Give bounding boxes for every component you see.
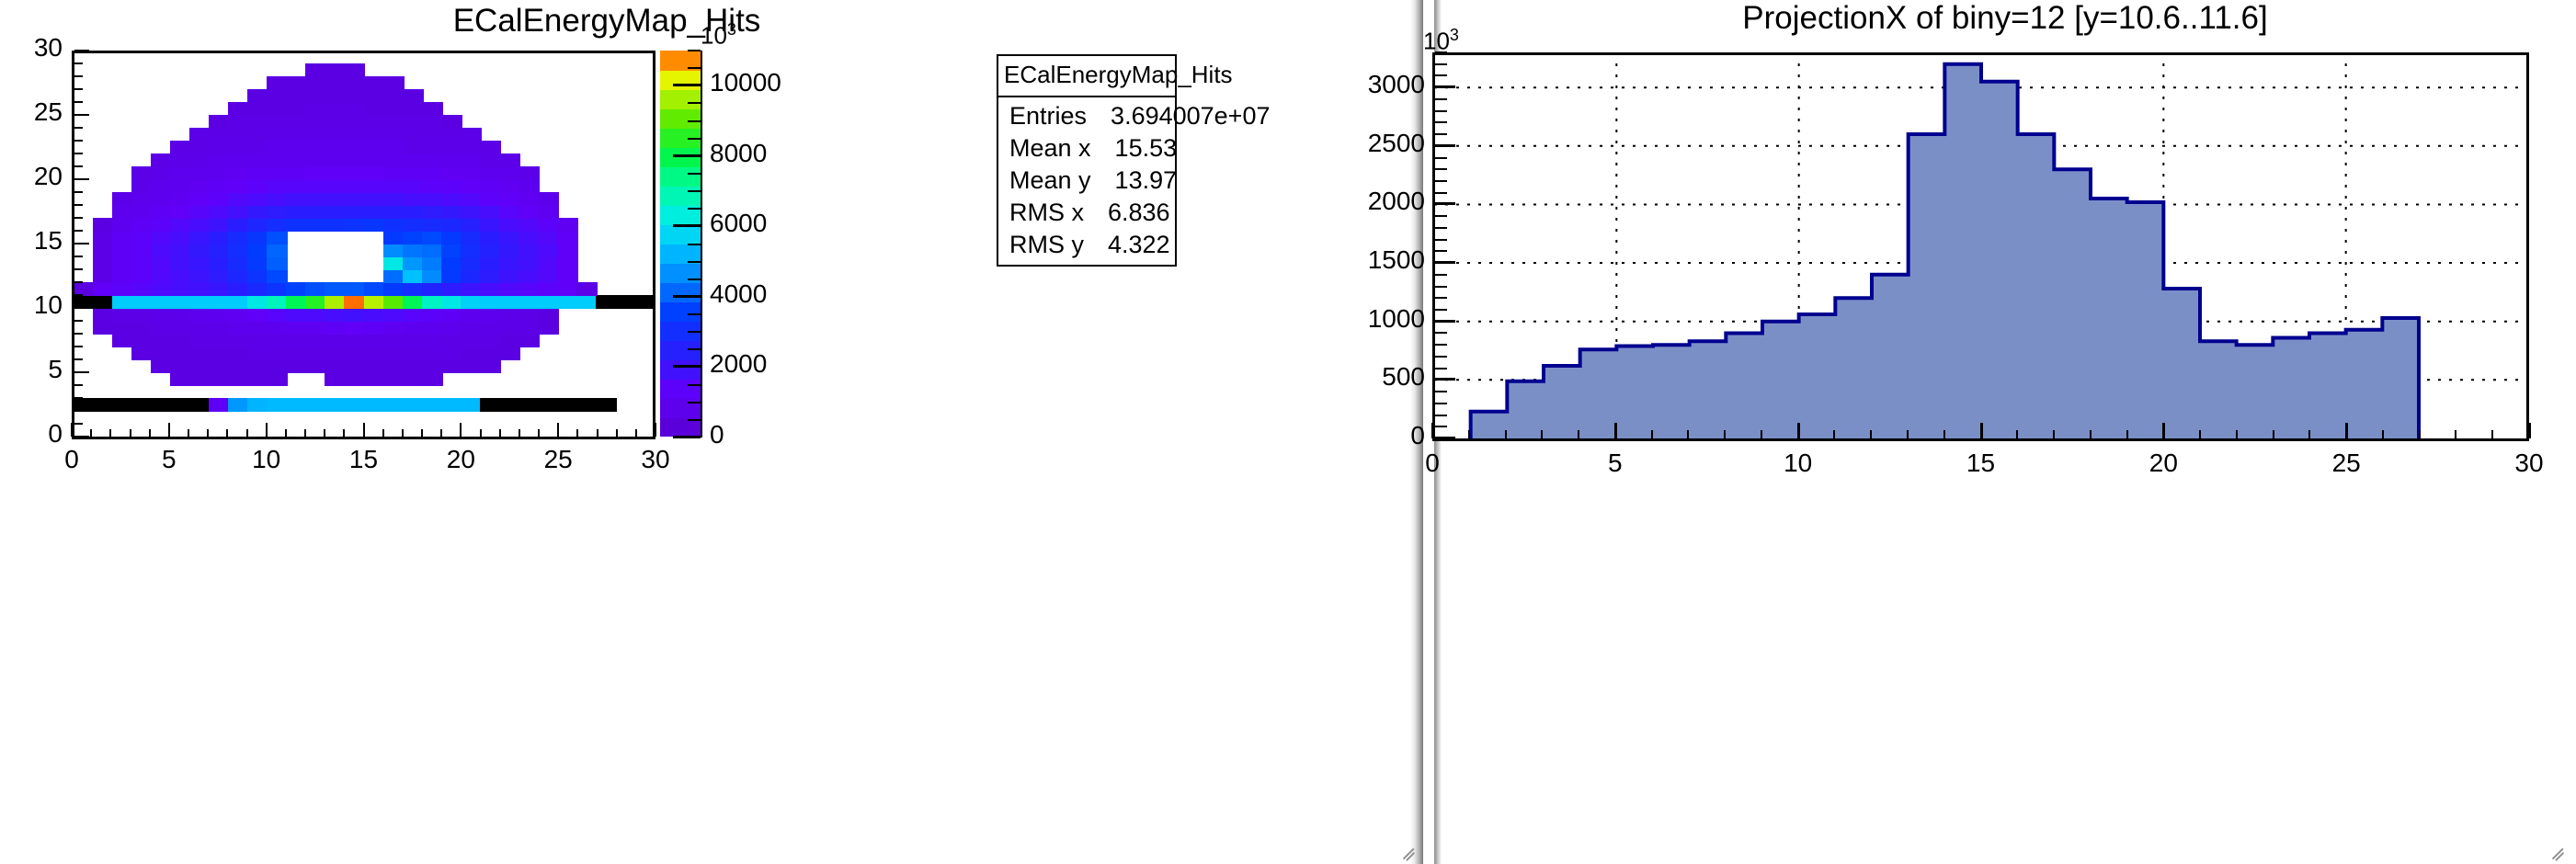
hist-y-tick-label: 3000 — [1316, 70, 1425, 99]
heatmap-x-minor-tick — [285, 429, 287, 437]
hist-y-minor-tick — [1435, 51, 1447, 53]
left-stat-row: Mean y13.97 — [1009, 165, 1164, 197]
left-stat-value: 15.53 — [1115, 132, 1178, 165]
heatmap-y-minor-tick — [74, 230, 83, 232]
hist-x-minor-tick — [2053, 430, 2055, 438]
palette-minor-tick — [688, 120, 701, 122]
hist-y-minor-tick — [1435, 356, 1447, 358]
palette-minor-tick — [688, 102, 701, 104]
heatmap-x-minor-tick — [402, 429, 404, 437]
heatmap-y-minor-tick — [74, 256, 83, 257]
hist-x-minor-tick — [1687, 430, 1689, 438]
heatmap-x-tick-label: 5 — [142, 445, 197, 474]
hist-x-minor-tick — [2382, 430, 2384, 438]
heatmap-y-minor-tick — [74, 320, 83, 322]
heatmap-y-minor-tick — [74, 165, 83, 167]
heatmap-y-tick-label: 20 — [0, 162, 63, 191]
heatmap-y-minor-tick — [74, 153, 83, 154]
histogram-canvas[interactable] — [1434, 52, 2528, 438]
heatmap-frame-left — [72, 51, 74, 439]
hist-y-tick-label: 1500 — [1316, 245, 1425, 275]
heatmap-x-minor-tick — [188, 429, 189, 437]
left-stat-key: RMS y — [1009, 229, 1108, 261]
hist-y-minor-tick — [1435, 309, 1447, 311]
palette-exponent: 103 — [701, 20, 736, 51]
heatmap-y-minor-tick — [74, 384, 83, 386]
hist-y-minor-tick — [1435, 74, 1447, 76]
heatmap-y-major-tick — [74, 307, 89, 309]
palette-minor-tick — [688, 190, 701, 192]
hist-y-minor-tick — [1435, 344, 1447, 346]
heatmap-y-minor-tick — [74, 101, 83, 103]
heatmap-y-major-tick — [74, 50, 89, 51]
palette-minor-tick — [688, 419, 701, 421]
left-pad-resize-grip[interactable] — [1399, 838, 1419, 858]
heatmap-x-minor-tick — [149, 429, 151, 437]
palette-exp-power: 3 — [727, 20, 736, 39]
hist-x-major-tick — [2528, 423, 2531, 438]
palette-minor-tick — [688, 138, 701, 140]
heatmap-y-minor-tick — [74, 281, 83, 283]
palette-tick-label: 10000 — [710, 68, 781, 97]
hist-y-major-tick — [1435, 437, 1455, 439]
palette-exp-base: 10 — [701, 22, 727, 50]
hist-x-tick-label: 0 — [1405, 449, 1460, 478]
heatmap-x-minor-tick — [207, 429, 209, 437]
hist-x-major-tick — [1797, 423, 1800, 438]
heatmap-plot-area[interactable] — [74, 51, 655, 437]
palette-major-tick — [673, 84, 701, 86]
hist-x-minor-tick — [1724, 430, 1726, 438]
right-plot-title: ProjectionX of biny=12 [y=10.6..11.6] — [1434, 0, 2576, 37]
left-stat-value: 4.322 — [1108, 229, 1170, 261]
hist-frame-right — [2526, 52, 2529, 441]
heatmap-y-tick-label: 15 — [0, 226, 63, 256]
heatmap-y-tick-label: 30 — [0, 33, 63, 63]
hist-x-tick-label: 15 — [1954, 449, 2009, 478]
heatmap-y-major-tick — [74, 114, 89, 116]
left-stat-key: RMS x — [1009, 197, 1108, 229]
hist-y-major-tick — [1435, 320, 1455, 323]
hist-y-minor-tick — [1435, 63, 1447, 65]
palette-minor-tick — [688, 348, 701, 350]
heatmap-x-minor-tick — [109, 429, 111, 437]
hist-y-minor-tick — [1435, 133, 1447, 135]
hist-x-minor-tick — [1761, 430, 1762, 438]
left-stat-row: RMS y4.322 — [1009, 229, 1164, 261]
palette-minor-tick — [688, 279, 701, 280]
heatmap-y-minor-tick — [74, 204, 83, 206]
palette-minor-tick — [688, 67, 701, 69]
left-stats-rows: Entries3.694007e+07Mean x15.53Mean y13.9… — [998, 97, 1175, 265]
palette-major-tick — [673, 295, 701, 298]
heatmap-y-minor-tick — [74, 63, 83, 64]
hist-y-minor-tick — [1435, 157, 1447, 159]
heatmap-y-tick-label: 25 — [0, 97, 63, 127]
heatmap-x-minor-tick — [597, 429, 598, 437]
hist-x-major-tick — [2162, 423, 2165, 438]
hist-x-minor-tick — [2236, 430, 2238, 438]
hist-y-tick-label: 2500 — [1316, 129, 1425, 158]
palette-minor-tick — [688, 331, 701, 333]
hist-y-minor-tick — [1435, 168, 1447, 170]
hist-x-minor-tick — [1505, 430, 1507, 438]
hist-y-tick-label: 500 — [1316, 362, 1425, 392]
hist-x-minor-tick — [2491, 430, 2493, 438]
heatmap-y-minor-tick — [74, 75, 83, 77]
heatmap-y-major-tick — [74, 243, 89, 244]
heatmap-y-minor-tick — [74, 294, 83, 296]
heatmap-x-minor-tick — [538, 429, 540, 437]
hist-y-minor-tick — [1435, 110, 1447, 112]
right-exp-power: 3 — [1450, 26, 1459, 44]
heatmap-x-minor-tick — [440, 429, 442, 437]
hist-x-minor-tick — [2199, 430, 2201, 438]
hist-x-tick-label: 30 — [2502, 449, 2557, 478]
heatmap-y-minor-tick — [74, 358, 83, 360]
hist-x-tick-label: 25 — [2319, 449, 2374, 478]
palette-major-tick — [673, 224, 701, 227]
heatmap-x-tick-label: 25 — [530, 445, 586, 474]
palette-minor-tick — [688, 384, 701, 386]
heatmap-y-minor-tick — [74, 346, 83, 347]
heatmap-x-major-tick — [71, 423, 73, 437]
heatmap-x-minor-tick — [616, 429, 618, 437]
hist-y-major-tick — [1435, 378, 1455, 381]
hist-frame-top — [1432, 52, 2529, 55]
palette-tick-label: 2000 — [710, 349, 767, 379]
left-stat-value: 3.694007e+07 — [1111, 100, 1270, 132]
hist-x-minor-tick — [2308, 430, 2310, 438]
hist-x-tick-label: 20 — [2136, 449, 2191, 478]
hist-y-minor-tick — [1435, 415, 1447, 416]
hist-x-minor-tick — [1870, 430, 1872, 438]
hist-x-minor-tick — [2126, 430, 2128, 438]
left-plot-title: ECalEnergyMap_Hits — [0, 3, 1214, 40]
right-pad-resize-grip[interactable] — [2548, 838, 2569, 858]
left-stat-key: Entries — [1009, 100, 1111, 132]
pad-projection-x[interactable]: ProjectionX of biny=12 [y=10.6..11.6] Nu… — [1434, 0, 2576, 864]
hist-x-major-tick — [2345, 423, 2348, 438]
palette-axis-line — [701, 51, 702, 438]
palette-tick-label: 0 — [710, 420, 724, 449]
left-stats-title: ECalEnergyMap_Hits — [998, 56, 1175, 97]
heatmap-y-major-tick — [74, 436, 89, 438]
palette-tick-label: 6000 — [710, 209, 767, 238]
heatmap-x-minor-tick — [304, 429, 306, 437]
heatmap-frame-bottom — [72, 437, 655, 439]
hist-y-minor-tick — [1435, 239, 1447, 241]
hist-x-tick-label: 10 — [1771, 449, 1826, 478]
heatmap-y-tick-label: 5 — [0, 355, 63, 384]
heatmap-x-minor-tick — [246, 429, 248, 437]
hist-frame-bottom — [1432, 438, 2529, 441]
hist-y-minor-tick — [1435, 98, 1447, 100]
palette-minor-tick — [688, 50, 701, 51]
heatmap-x-major-tick — [363, 423, 365, 437]
hist-x-tick-label: 5 — [1588, 449, 1643, 478]
left-stats-box[interactable]: ECalEnergyMap_Hits Entries3.694007e+07Me… — [997, 54, 1177, 267]
histogram-plot-area[interactable] — [1434, 52, 2528, 438]
left-stat-row: RMS x6.836 — [1009, 197, 1164, 229]
palette-minor-tick — [688, 261, 701, 263]
hist-x-minor-tick — [1907, 430, 1909, 438]
hist-x-minor-tick — [2273, 430, 2274, 438]
hist-y-minor-tick — [1435, 391, 1447, 392]
hist-x-major-tick — [1614, 423, 1617, 438]
heatmap-y-minor-tick — [74, 268, 83, 270]
left-stat-value: 6.836 — [1108, 197, 1170, 229]
heatmap-canvas[interactable] — [74, 51, 655, 437]
heatmap-x-minor-tick — [635, 429, 637, 437]
heatmap-y-minor-tick — [74, 217, 83, 219]
heatmap-y-minor-tick — [74, 127, 83, 129]
heatmap-x-tick-label: 15 — [336, 445, 392, 474]
hist-x-minor-tick — [1833, 430, 1835, 438]
heatmap-x-major-tick — [655, 423, 656, 437]
hist-x-minor-tick — [2419, 430, 2421, 438]
hist-y-minor-tick — [1435, 297, 1447, 299]
heatmap-y-tick-label: 0 — [0, 419, 63, 449]
hist-y-major-tick — [1435, 85, 1455, 88]
heatmap-y-minor-tick — [74, 397, 83, 399]
hist-x-major-tick — [1431, 423, 1434, 438]
hist-y-minor-tick — [1435, 332, 1447, 334]
hist-y-minor-tick — [1435, 368, 1447, 369]
heatmap-x-minor-tick — [226, 429, 228, 437]
hist-x-minor-tick — [2090, 430, 2092, 438]
hist-x-minor-tick — [2455, 430, 2456, 438]
heatmap-y-tick-label: 10 — [0, 290, 63, 320]
palette-minor-tick — [688, 244, 701, 245]
palette-tick-label: 8000 — [710, 139, 767, 168]
hist-x-minor-tick — [1651, 430, 1653, 438]
hist-y-tick-label: 0 — [1316, 421, 1425, 450]
pad-ecal-energy-map[interactable]: ECalEnergyMap_Hits 051015202530 05101520… — [0, 0, 1423, 864]
hist-x-major-tick — [1980, 423, 1983, 438]
heatmap-x-major-tick — [168, 423, 170, 437]
hist-y-minor-tick — [1435, 286, 1447, 288]
hist-y-major-tick — [1435, 202, 1455, 205]
heatmap-x-minor-tick — [324, 429, 325, 437]
heatmap-x-tick-label: 20 — [433, 445, 488, 474]
left-stat-value: 13.97 — [1115, 165, 1178, 197]
left-stat-row: Mean x15.53 — [1009, 132, 1164, 165]
hist-y-minor-tick — [1435, 426, 1447, 427]
heatmap-y-major-tick — [74, 371, 89, 373]
left-stat-key: Mean y — [1009, 165, 1115, 197]
hist-y-minor-tick — [1435, 121, 1447, 123]
hist-x-minor-tick — [2016, 430, 2018, 438]
hist-y-minor-tick — [1435, 227, 1447, 229]
heatmap-x-major-tick — [557, 423, 559, 437]
palette-tick-label: 4000 — [710, 279, 767, 309]
heatmap-y-minor-tick — [74, 333, 83, 335]
hist-y-major-tick — [1435, 144, 1455, 147]
palette-minor-tick — [688, 208, 701, 210]
heatmap-x-minor-tick — [499, 429, 501, 437]
heatmap-x-minor-tick — [90, 429, 92, 437]
heatmap-x-minor-tick — [519, 429, 520, 437]
hist-y-minor-tick — [1435, 192, 1447, 194]
heatmap-frame-top — [72, 51, 655, 53]
heatmap-y-minor-tick — [74, 140, 83, 142]
hist-y-major-tick — [1435, 261, 1455, 264]
hist-y-tick-label: 2000 — [1316, 187, 1425, 216]
hist-y-tick-label: 1000 — [1316, 304, 1425, 334]
palette-minor-tick — [688, 402, 701, 404]
hist-x-minor-tick — [1541, 430, 1543, 438]
heatmap-x-minor-tick — [382, 429, 384, 437]
heatmap-y-minor-tick — [74, 423, 83, 425]
root-canvas-pair: ECalEnergyMap_Hits 051015202530 05101520… — [0, 0, 2576, 864]
left-stat-row: Entries3.694007e+07 — [1009, 100, 1164, 132]
heatmap-x-tick-label: 10 — [239, 445, 294, 474]
palette-major-tick — [673, 365, 701, 368]
hist-y-minor-tick — [1435, 215, 1447, 217]
heatmap-x-major-tick — [460, 423, 462, 437]
hist-y-minor-tick — [1435, 274, 1447, 276]
palette-major-tick — [673, 154, 701, 157]
heatmap-frame-right — [653, 51, 655, 439]
heatmap-y-minor-tick — [74, 410, 83, 412]
heatmap-y-minor-tick — [74, 88, 83, 90]
palette-minor-tick — [688, 313, 701, 315]
hist-x-minor-tick — [1578, 430, 1579, 438]
hist-y-minor-tick — [1435, 180, 1447, 182]
heatmap-y-minor-tick — [74, 191, 83, 193]
palette-major-tick — [673, 436, 701, 438]
heatmap-x-major-tick — [266, 423, 268, 437]
heatmap-x-minor-tick — [421, 429, 423, 437]
hist-y-minor-tick — [1435, 403, 1447, 404]
palette-minor-tick — [688, 173, 701, 175]
hist-x-minor-tick — [1468, 430, 1470, 438]
heatmap-x-minor-tick — [480, 429, 482, 437]
heatmap-x-minor-tick — [343, 429, 345, 437]
left-stat-key: Mean x — [1009, 132, 1115, 165]
heatmap-x-tick-label: 0 — [44, 445, 99, 474]
heatmap-x-tick-label: 30 — [628, 445, 683, 474]
heatmap-x-minor-tick — [130, 429, 131, 437]
heatmap-x-minor-tick — [576, 429, 578, 437]
heatmap-y-major-tick — [74, 178, 89, 180]
hist-y-minor-tick — [1435, 250, 1447, 252]
hist-x-minor-tick — [1943, 430, 1945, 438]
